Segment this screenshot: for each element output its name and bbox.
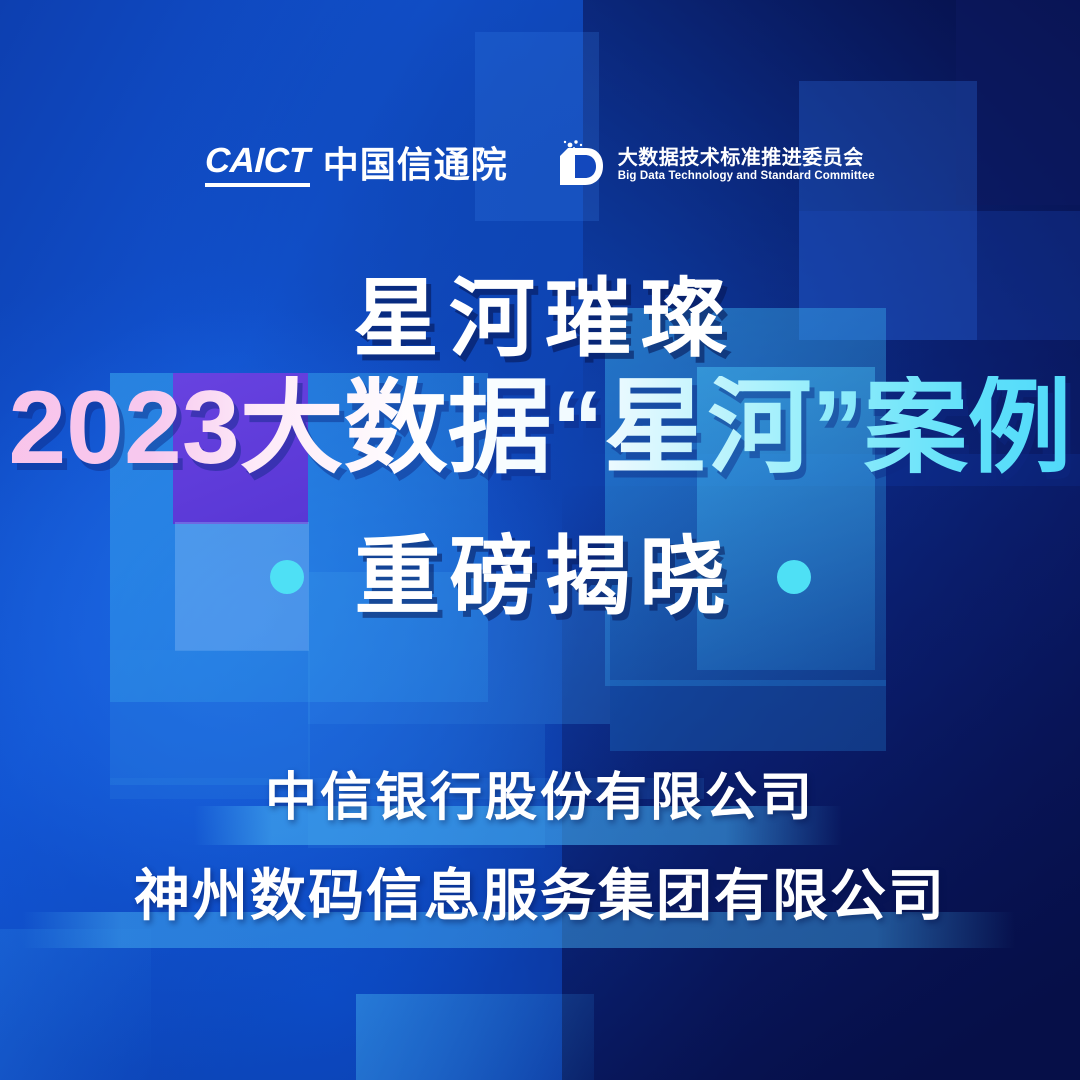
- bigdata-english-name: Big Data Technology and Standard Committ…: [618, 171, 875, 183]
- caict-logo: CAICT 中国信通院: [205, 143, 507, 187]
- bigdata-logo-text: 大数据技术标准推进委员会 Big Data Technology and Sta…: [618, 148, 875, 183]
- header-logo-bar: CAICT 中国信通院 大数据技术标准推进委员会: [0, 140, 1080, 190]
- bigdata-d-sparkle-mark-icon: [560, 140, 606, 190]
- poster-canvas: CAICT 中国信通院 大数据技术标准推进委员会: [0, 0, 1080, 1080]
- company-name-one: 中信银行股份有限公司: [0, 772, 1080, 824]
- cyan-dot-icon-right: [777, 560, 811, 594]
- bigdata-logo: 大数据技术标准推进委员会 Big Data Technology and Sta…: [560, 140, 875, 190]
- cyan-dot-icon-left: [270, 560, 304, 594]
- company-name-two: 神州数码信息服务集团有限公司: [0, 868, 1080, 924]
- main-title: 星河璀璨 2023大数据“星河”案例 重磅揭晓: [0, 276, 1080, 620]
- caict-underline-mark-icon: CAICT: [205, 143, 309, 187]
- background-block-bottom-left: [0, 929, 151, 1080]
- company-list: 中信银行股份有限公司 神州数码信息服务集团有限公司: [0, 772, 1080, 924]
- background-block-right-lower: [610, 680, 885, 750]
- title-line-three-row: 重磅揭晓: [0, 534, 1080, 620]
- background-block-bottom-center: [356, 994, 594, 1080]
- bigdata-chinese-name: 大数据技术标准推进委员会: [618, 148, 875, 168]
- background-block-left-lower: [110, 650, 310, 785]
- caict-chinese-name: 中国信通院: [323, 147, 508, 183]
- caict-underline-rule: [205, 183, 309, 187]
- title-line-two: 2023大数据“星河”案例: [0, 376, 1080, 480]
- title-line-three: 重磅揭晓: [355, 534, 735, 620]
- title-line-one: 星河璀璨: [10, 276, 1080, 362]
- caict-wordmark: CAICT: [205, 143, 311, 178]
- background-block-top-center: [475, 32, 599, 221]
